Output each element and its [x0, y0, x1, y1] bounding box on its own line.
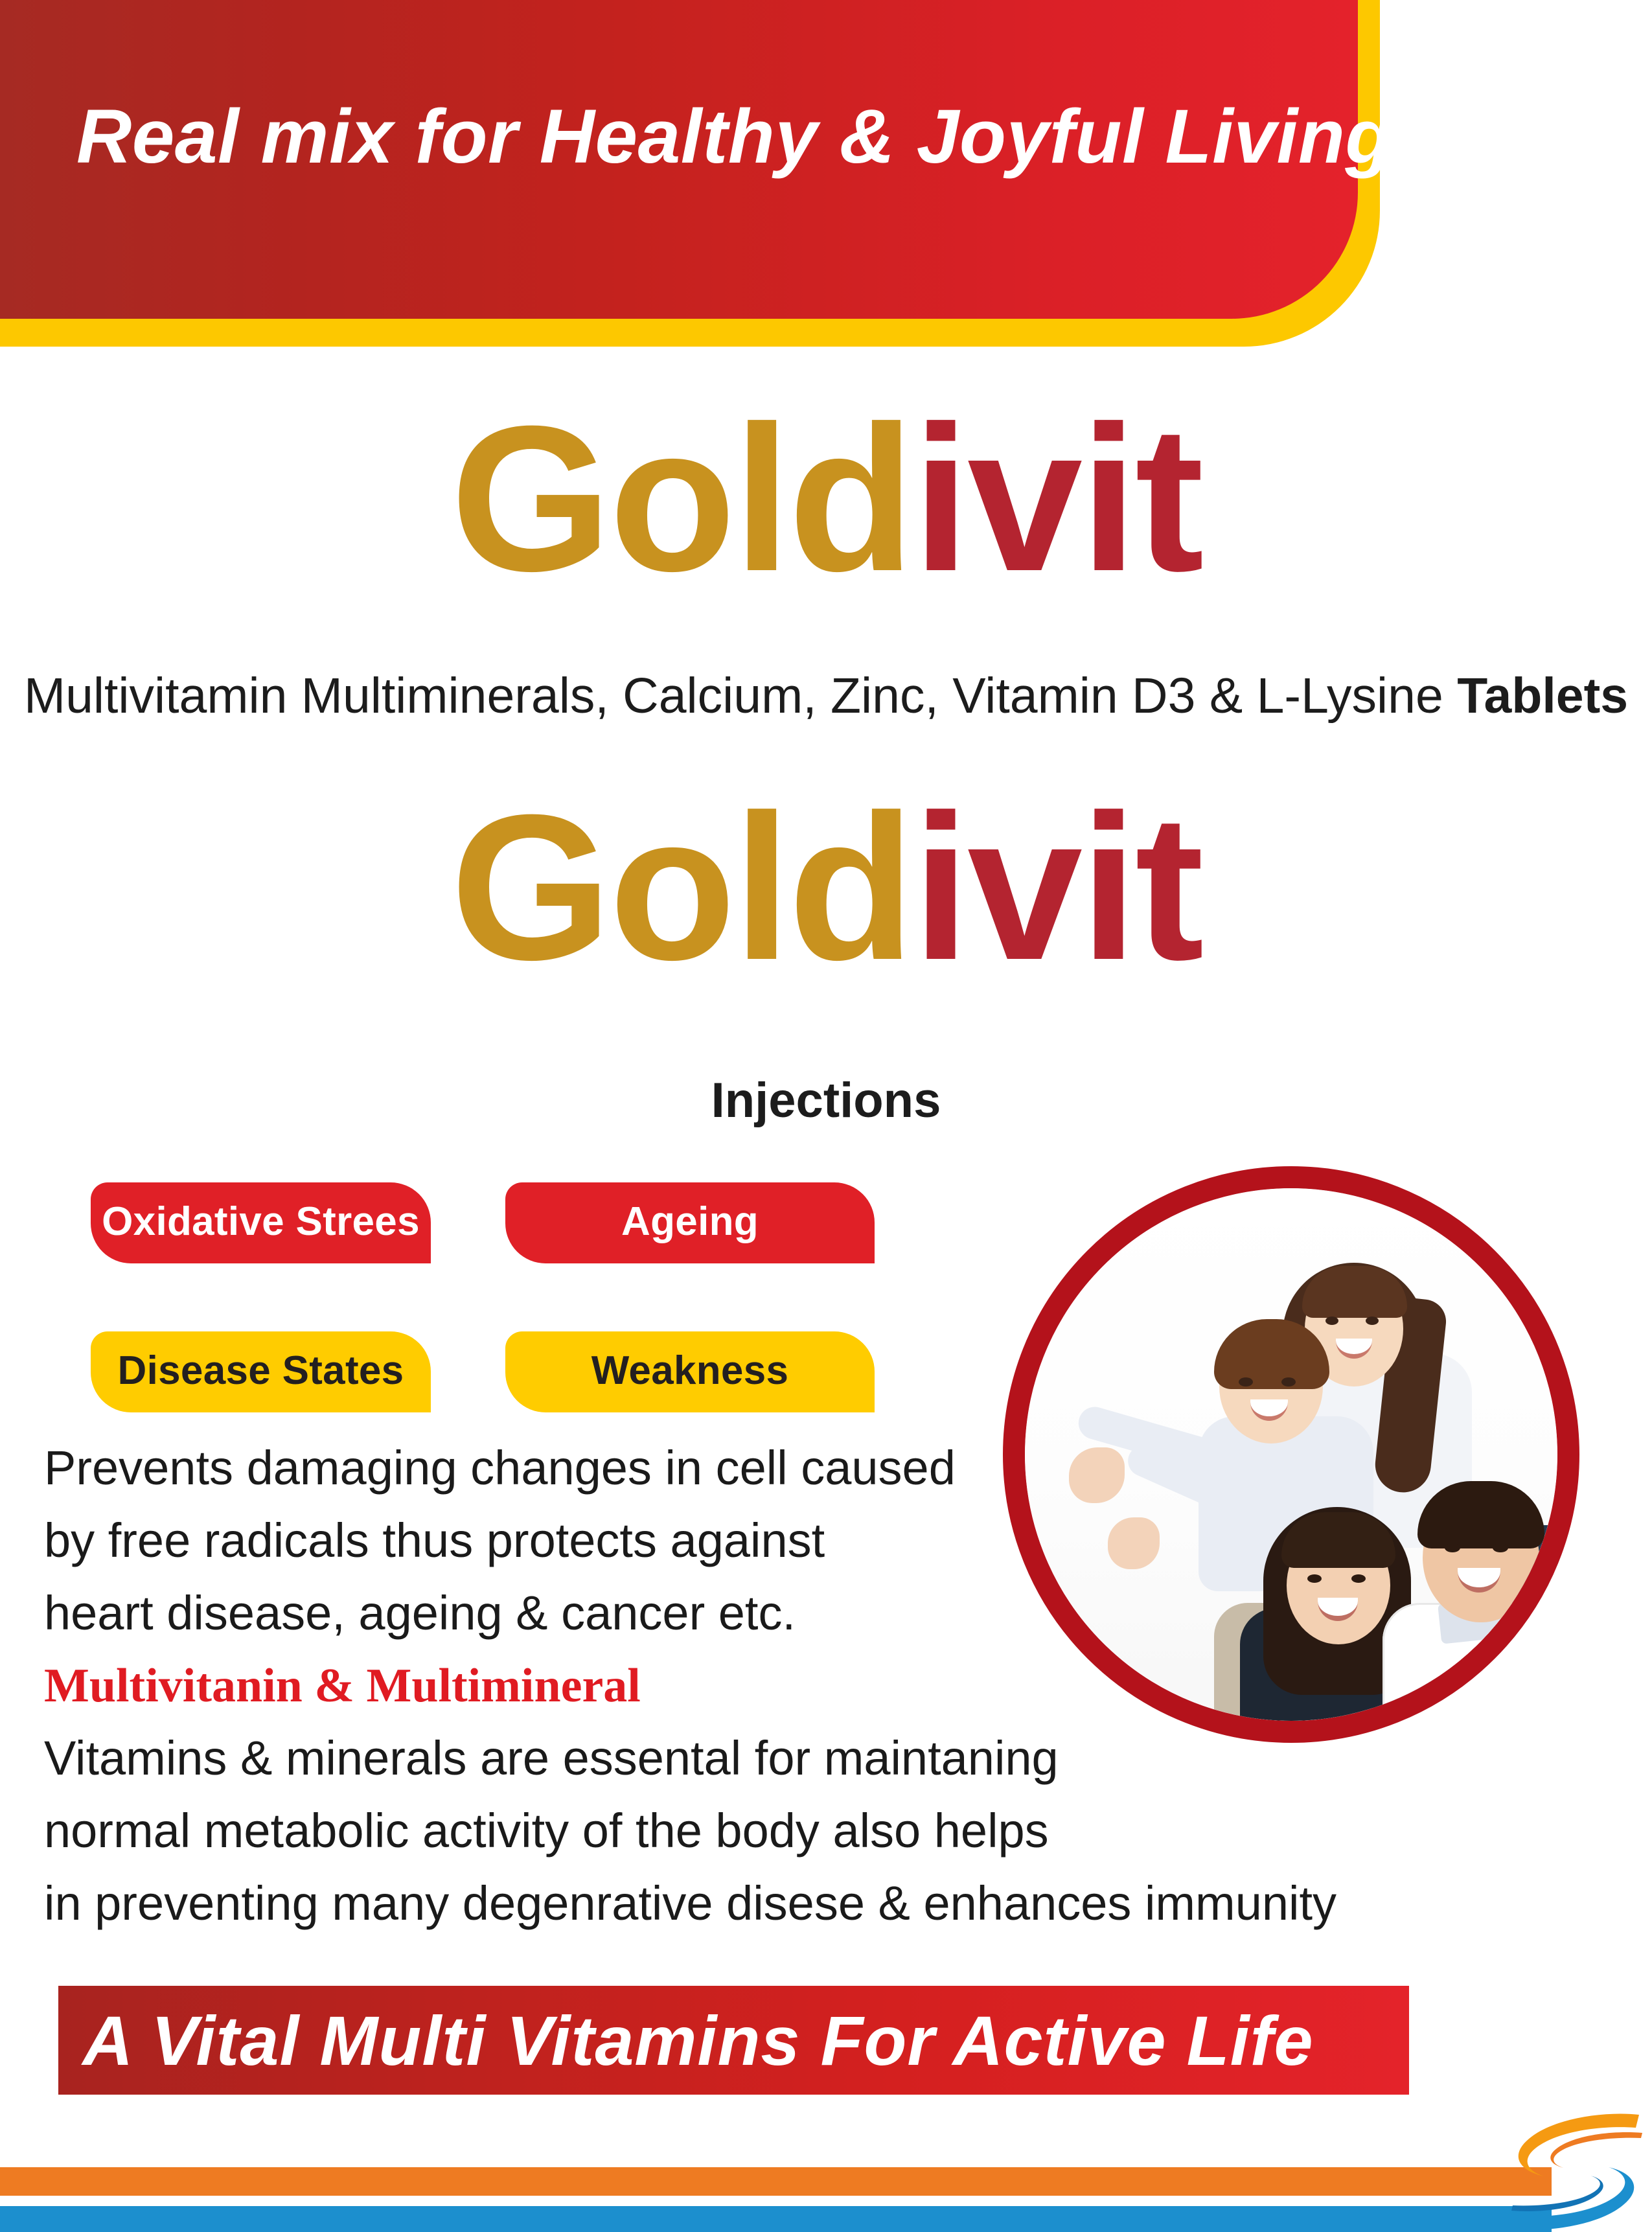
tablets-subtitle: Multivitamin Multiminerals, Calcium, Zin… [0, 667, 1652, 725]
footer-stripe-blue [0, 2206, 1552, 2232]
brand-logo-red-part-2: ivit [912, 771, 1201, 1003]
injections-label: Injections [0, 1072, 1652, 1129]
girl-left-eye [1325, 1317, 1338, 1325]
father-right-eye [1493, 1543, 1508, 1552]
brand-logo-injections: Goldivit [0, 768, 1652, 1006]
brand-logo-gold-part-2: Gold [450, 771, 912, 1003]
mother-left-eye [1307, 1574, 1322, 1583]
boy-left-eye [1239, 1377, 1253, 1386]
body-para2-line3: in preventing many degenrative disese & … [44, 1867, 1392, 1940]
boy-right-eye [1281, 1377, 1296, 1386]
bottom-tagline-text: A Vital Multi Vitamins For Active Life [58, 2000, 1409, 2081]
girl-right-eye [1366, 1317, 1379, 1325]
brand-logo-tablets: Goldivit [0, 379, 1652, 617]
tag-weakness: Weakness [505, 1331, 875, 1412]
family-photo-circle [1003, 1166, 1579, 1743]
tablets-bold-word: Tablets [1457, 668, 1628, 724]
father-left-eye [1445, 1543, 1460, 1552]
tag-disease-states: Disease States [91, 1331, 431, 1412]
boy-right-hand [1108, 1517, 1160, 1569]
brand-logo-red-part: ivit [912, 382, 1201, 614]
body-para2-line2: normal metabolic activity of the body al… [44, 1795, 1392, 1867]
advertisement-page: Real mix for Healthy & Joyful Living Gol… [0, 0, 1652, 2232]
body-para2-line1: Vitamins & minerals are essental for mai… [44, 1722, 1392, 1795]
header-headline: Real mix for Healthy & Joyful Living [76, 97, 1307, 178]
tag-oxidative-strees: Oxidative Strees [91, 1182, 431, 1263]
tag-ageing: Ageing [505, 1182, 875, 1263]
child-shoe-white [1388, 1718, 1464, 1721]
boy-left-hand [1069, 1447, 1125, 1503]
mother-right-eye [1351, 1574, 1366, 1583]
footer-stripe-orange [0, 2167, 1552, 2196]
company-swoosh-logo [1506, 2111, 1646, 2232]
bottom-tagline-banner: A Vital Multi Vitamins For Active Life [58, 1986, 1409, 2095]
mother-fringe [1281, 1512, 1395, 1568]
tablets-subtitle-text: Multivitamin Multiminerals, Calcium, Zin… [24, 668, 1457, 724]
family-photo-image [1025, 1188, 1557, 1721]
brand-logo-gold-part: Gold [450, 382, 912, 614]
